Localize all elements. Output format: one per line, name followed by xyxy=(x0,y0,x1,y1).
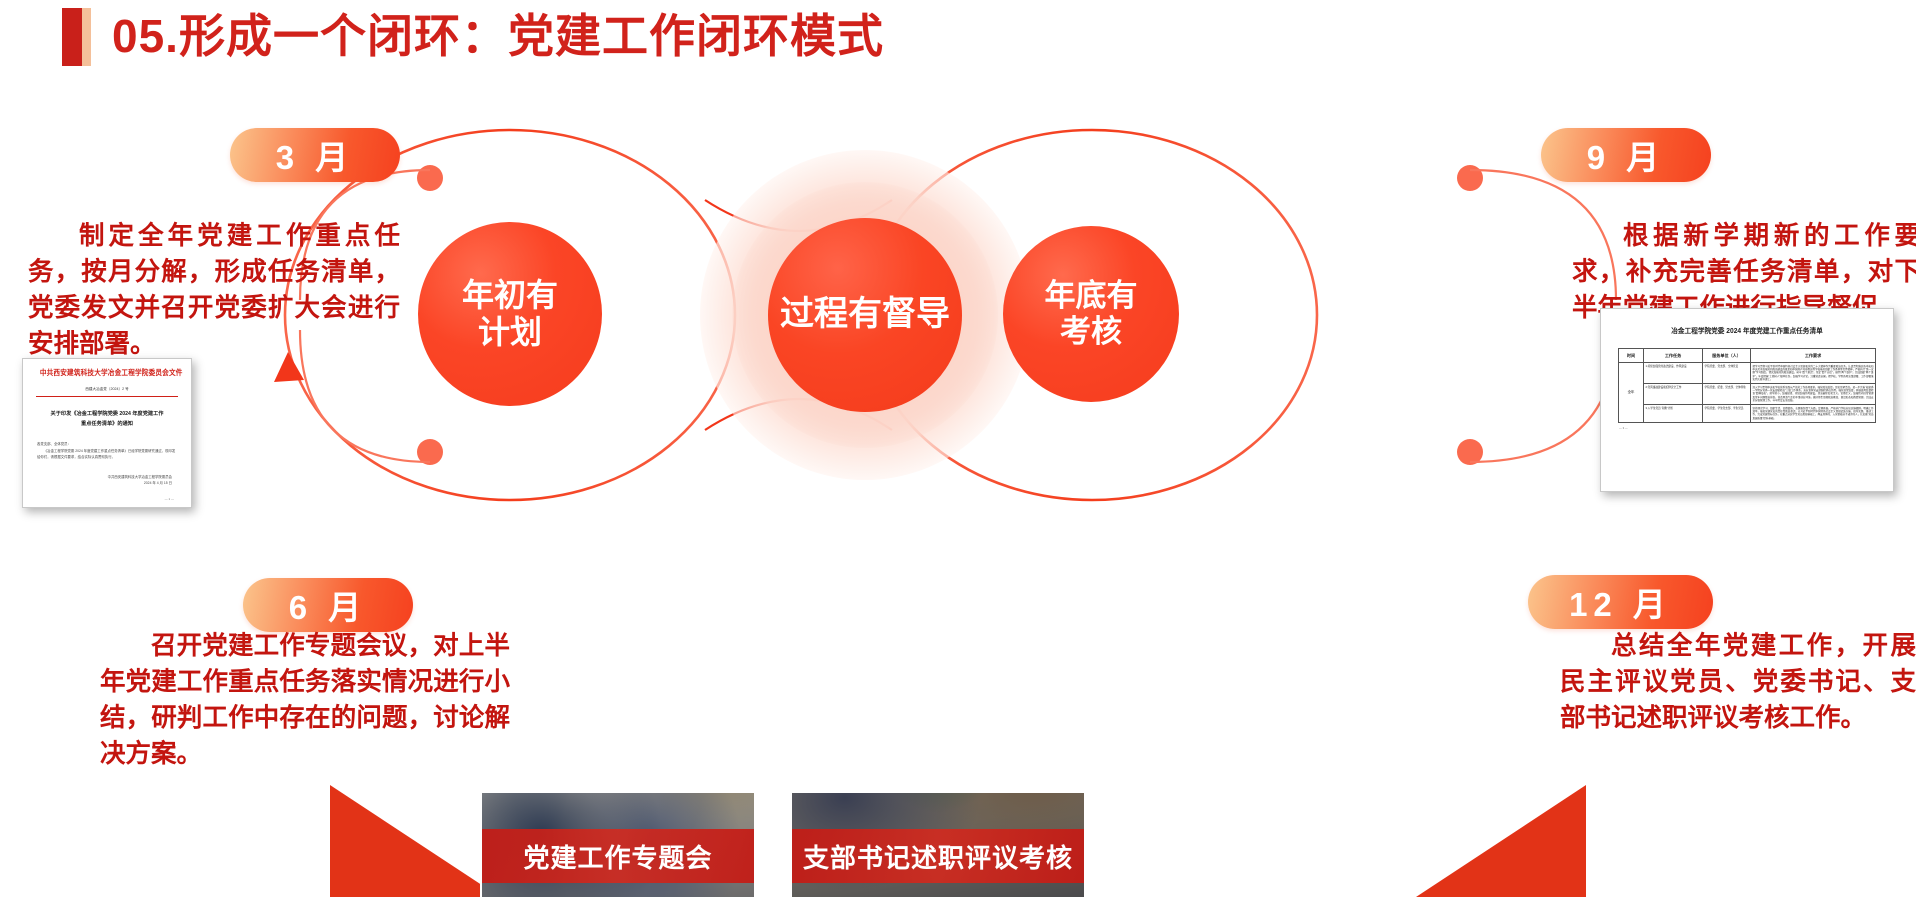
column-header-time: 时间 xyxy=(1619,349,1644,363)
slide-header: 05.形成一个闭环：党建工作闭环模式 xyxy=(0,0,1916,90)
circle-left-line2: 计划 xyxy=(462,314,558,351)
task-list-title: 冶金工程学院党委 2024 年度党建工作重点任务清单 xyxy=(1608,326,1885,336)
notice-page-number: — 1 — xyxy=(34,497,180,501)
document-thumbnail-notice[interactable]: 中共西安建筑科技大学冶金工程学院委员会文件 西建大冶金党〔2024〕2 号 关于… xyxy=(22,358,192,508)
task-list-table: 时间 工作任务 服务单位（人） 工作要求 全年 1.持续加强党的政治建设、作风建… xyxy=(1618,348,1876,423)
task-list-page-number: — 3 — xyxy=(1619,426,1893,430)
photo-card-review[interactable]: 支部书记述职评议考核 xyxy=(790,791,1086,897)
circle-year-end-review[interactable]: 年底有 考核 xyxy=(1003,226,1179,402)
notice-subject-line2: 重点任务清单》的通知 xyxy=(34,419,180,429)
document-thumbnail-task-list[interactable]: 冶金工程学院党委 2024 年度党建工作重点任务清单 时间 工作任务 服务单位（… xyxy=(1600,308,1894,492)
cell-time: 全年 xyxy=(1619,363,1644,423)
header-accent-bar-secondary xyxy=(82,8,91,66)
circle-left-line1: 年初有 xyxy=(462,277,558,314)
bottom-wedge-left xyxy=(330,785,500,897)
loop-node-september xyxy=(1457,165,1483,191)
loop-node-december xyxy=(1457,439,1483,465)
header-accent-bar xyxy=(62,8,82,66)
circle-process-supervision[interactable]: 过程有督导 xyxy=(768,218,962,412)
cell-unit: 学院党委、纪委、党支部、全体师生 xyxy=(1703,384,1751,405)
cell-task: 2.党风廉政建设和纪律安全工作 xyxy=(1644,384,1703,405)
slide-canvas: 05.形成一个闭环：党建工作闭环模式 xyxy=(0,0,1916,897)
table-row: 全年 1.持续加强党的政治建设、作风建设 学院党委、党支部、全体党员 把学习贯彻… xyxy=(1619,363,1876,384)
cell-require: 深入学习贯彻中央和学校党委全面从严治党工作各项要求，强化政治监督，压实压紧责任，… xyxy=(1751,384,1876,405)
column-header-task: 工作任务 xyxy=(1644,349,1703,363)
table-row: 2.党风廉政建设和纪律安全工作 学院党委、纪委、党支部、全体师生 深入学习贯彻中… xyxy=(1619,384,1876,405)
table-header-row: 时间 工作任务 服务单位（人） 工作要求 xyxy=(1619,349,1876,363)
circle-right-line2: 考核 xyxy=(1045,314,1138,350)
table-row: 3.入学生党员“育鹰”计划 学院党委、学生党支部、学生党员 坚持理论学习、组织生… xyxy=(1619,405,1876,423)
notice-divider xyxy=(36,396,178,397)
circle-right-line1: 年底有 xyxy=(1045,278,1138,314)
photo-caption-meeting: 党建工作专题会 xyxy=(482,829,754,883)
milestone-text-december: 总结全年党建工作，开展民主评议党员、党委书记、支部书记述职评议考核工作。 xyxy=(1560,628,1916,736)
page-title: 05.形成一个闭环：党建工作闭环模式 xyxy=(112,6,884,66)
milestone-text-march: 制定全年党建工作重点任务，按月分解，形成任务清单，党委发文并召开党委扩大会进行安… xyxy=(28,218,400,362)
photo-card-meeting[interactable]: 党建工作专题会 xyxy=(480,791,756,897)
month-pill-march[interactable]: 3 月 xyxy=(230,128,400,182)
bottom-wedge-right xyxy=(1416,785,1586,897)
cell-unit: 学院党委、学生党支部、学生党员 xyxy=(1703,405,1751,423)
photo-caption-review: 支部书记述职评议考核 xyxy=(792,829,1084,883)
cell-require: 坚持理论学习、组织生活、实践锻炼、志愿服务四个方面，定期开展，严格执行学校分层实… xyxy=(1751,405,1876,423)
cell-unit: 学院党委、党支部、全体党员 xyxy=(1703,363,1751,384)
cell-task: 1.持续加强党的政治建设、作风建设 xyxy=(1644,363,1703,384)
month-pill-september[interactable]: 9 月 xyxy=(1541,128,1711,182)
loop-node-march xyxy=(417,165,443,191)
month-pill-december[interactable]: 12 月 xyxy=(1528,575,1713,629)
circle-mid-line1: 过程有督导 xyxy=(780,295,950,334)
notice-doc-number: 西建大冶金党〔2024〕2 号 xyxy=(34,387,180,392)
circle-year-start-plan[interactable]: 年初有 计划 xyxy=(418,222,602,406)
notice-date: 2024 年 4 月 15 日 xyxy=(34,480,172,487)
cell-require: 把学习贯彻习近平新时代中国特色社会主义思想和党的二十大精神作为重要政治任务，认真… xyxy=(1751,363,1876,384)
loop-node-june xyxy=(417,439,443,465)
cell-task: 3.入学生党员“育鹰”计划 xyxy=(1644,405,1703,423)
column-header-unit: 服务单位（人） xyxy=(1703,349,1751,363)
month-pill-june[interactable]: 6 月 xyxy=(243,578,413,632)
notice-body: 《冶金工程学院党委 2024 年度党建工作重点任务清单》已经学院党委研究通过，现… xyxy=(37,448,177,461)
notice-subject-line1: 关于印发《冶金工程学院党委 2024 年度党建工作 xyxy=(34,409,180,419)
notice-header: 中共西安建筑科技大学冶金工程学院委员会文件 xyxy=(40,368,174,378)
column-header-require: 工作要求 xyxy=(1751,349,1876,363)
milestone-text-june: 召开党建工作专题会议，对上半年党建工作重点任务落实情况进行小结，研判工作中存在的… xyxy=(100,628,510,772)
